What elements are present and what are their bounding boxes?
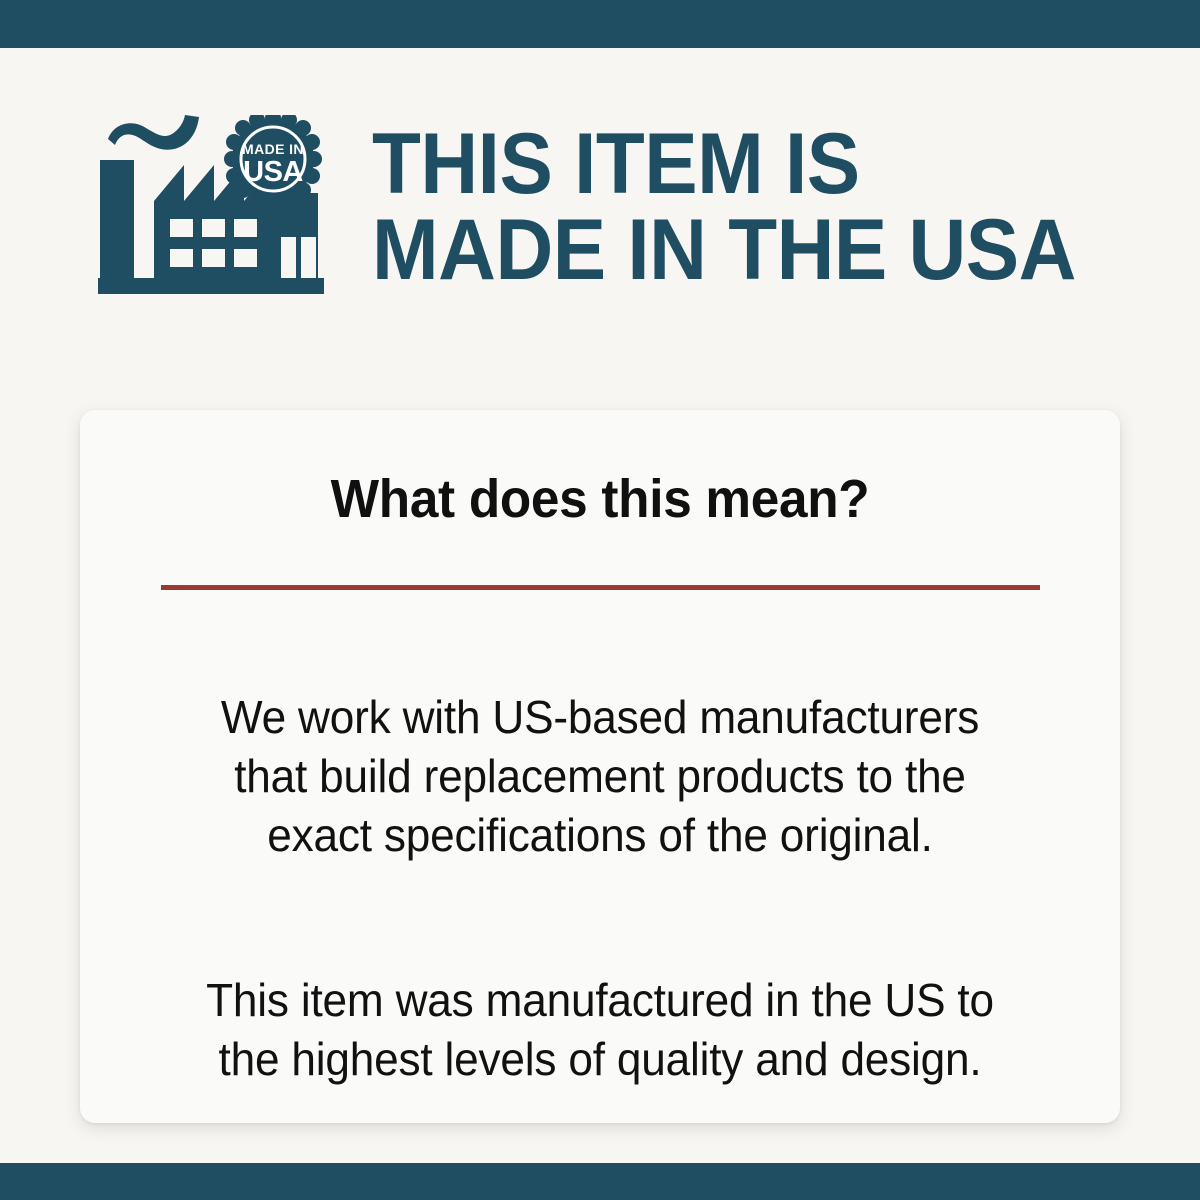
card-paragraph-2: This item was manufactured in the US to … bbox=[158, 971, 1041, 1089]
card-heading: What does this mean? bbox=[106, 472, 1094, 526]
heading-divider bbox=[161, 585, 1040, 590]
explanation-card: What does this mean? We work with US-bas… bbox=[80, 410, 1120, 1123]
card-paragraph-1: We work with US-based manufacturers that… bbox=[158, 688, 1041, 865]
top-brand-bar bbox=[0, 0, 1200, 48]
content-stage: MADE IN USA THIS ITEM IS MADE IN THE USA… bbox=[0, 48, 1200, 1163]
made-in-usa-badge-icon: MADE IN USA bbox=[224, 115, 322, 208]
svg-text:MADE IN: MADE IN bbox=[242, 141, 304, 157]
factory-icon: MADE IN USA bbox=[98, 115, 336, 300]
page-title: THIS ITEM IS MADE IN THE USA bbox=[372, 122, 1076, 292]
header: MADE IN USA THIS ITEM IS MADE IN THE USA bbox=[98, 100, 1158, 315]
svg-text:USA: USA bbox=[243, 156, 303, 188]
bottom-brand-bar bbox=[0, 1163, 1200, 1200]
